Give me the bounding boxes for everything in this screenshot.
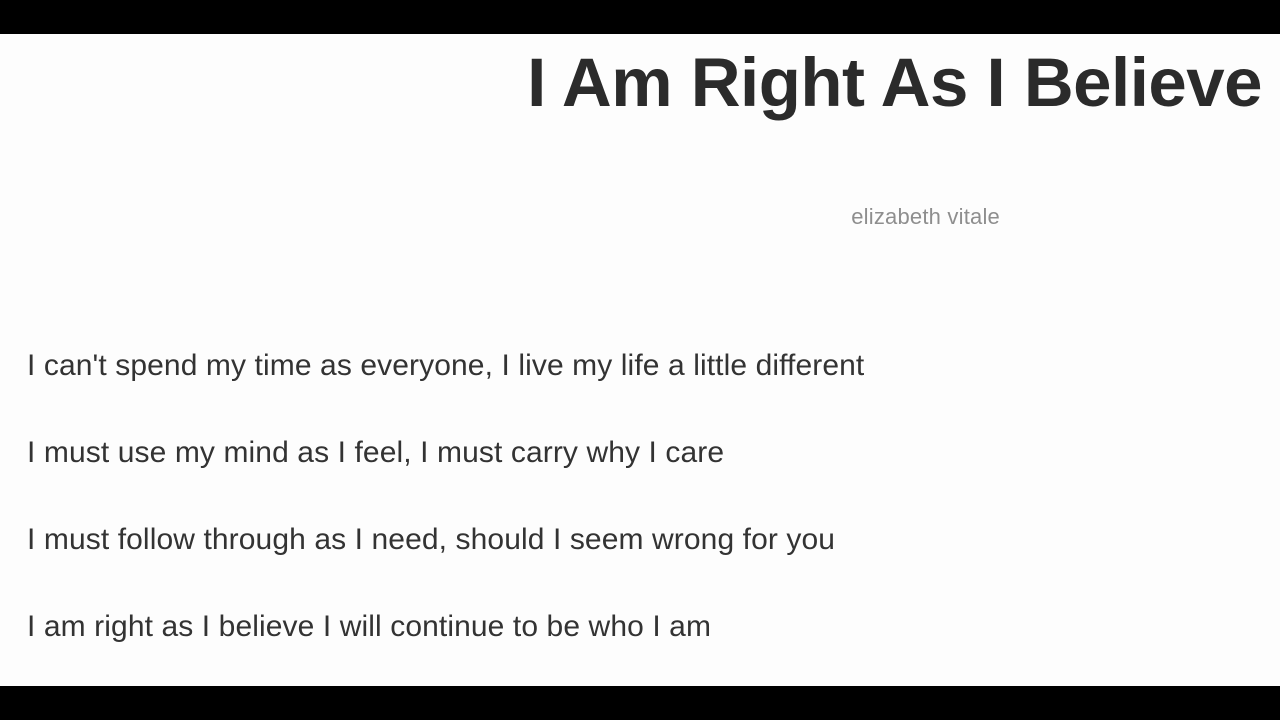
poem-line: I am right as I believe I will continue … <box>27 583 1227 670</box>
poem-body: I can't spend my time as everyone, I liv… <box>27 322 1227 670</box>
letterbox-bar-top <box>0 0 1280 34</box>
page-title: I Am Right As I Believe <box>0 48 1262 117</box>
poem-page: I Am Right As I Believe elizabeth vitale… <box>0 34 1280 686</box>
author-byline: elizabeth vitale <box>0 206 1000 228</box>
letterbox-bar-bottom <box>0 686 1280 720</box>
poem-line: I must follow through as I need, should … <box>27 496 1227 583</box>
video-frame: I Am Right As I Believe elizabeth vitale… <box>0 0 1280 720</box>
poem-line: I must use my mind as I feel, I must car… <box>27 409 1227 496</box>
poem-line: I can't spend my time as everyone, I liv… <box>27 322 1227 409</box>
